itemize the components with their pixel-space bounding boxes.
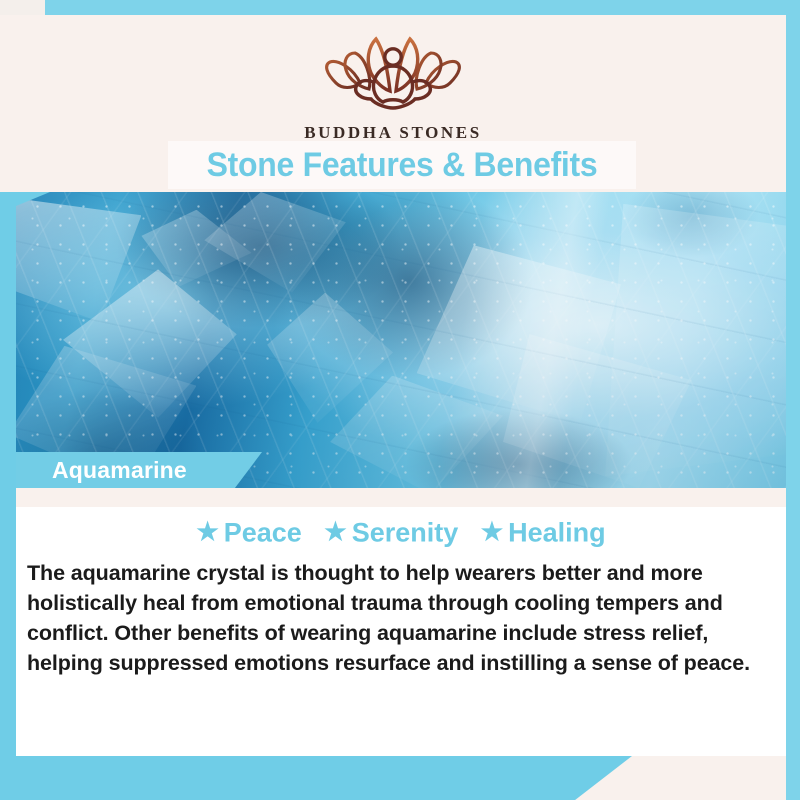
keyword-label: Healing — [508, 517, 606, 547]
aquamarine-crystal-photo — [0, 192, 786, 488]
stone-name-label: Aquamarine — [52, 452, 187, 488]
keyword-label: Serenity — [352, 517, 459, 547]
keyword-item-healing: ★Healing — [481, 516, 606, 548]
top-blue-edge — [45, 0, 800, 15]
bottom-blue-band — [0, 756, 632, 800]
keyword-item-peace: ★Peace — [196, 516, 302, 548]
lotus-meditation-figure-icon — [308, 25, 478, 121]
right-blue-edge — [786, 0, 800, 800]
photo-under-strip — [16, 488, 786, 507]
star-icon: ★ — [196, 520, 218, 545]
keyword-item-serenity: ★Serenity — [324, 516, 458, 548]
photo-tint-layer — [0, 192, 786, 488]
description-text: The aquamarine crystal is thought to hel… — [27, 558, 775, 678]
left-blue-edge — [0, 192, 16, 756]
stone-benefits-infographic: BUDDHA STONES Stone Features & Benefits … — [0, 0, 800, 800]
brand-logo: BUDDHA STONES — [0, 25, 786, 143]
cream-corner-top-left — [0, 0, 45, 15]
brand-name: BUDDHA STONES — [0, 123, 786, 143]
page-title: Stone Features & Benefits — [182, 141, 622, 189]
content-panel: ★Peace ★Serenity ★Healing The aquamarine… — [16, 507, 786, 756]
star-icon: ★ — [324, 520, 346, 545]
star-icon: ★ — [481, 520, 503, 545]
keyword-label: Peace — [224, 517, 302, 547]
keyword-row: ★Peace ★Serenity ★Healing — [16, 516, 786, 548]
